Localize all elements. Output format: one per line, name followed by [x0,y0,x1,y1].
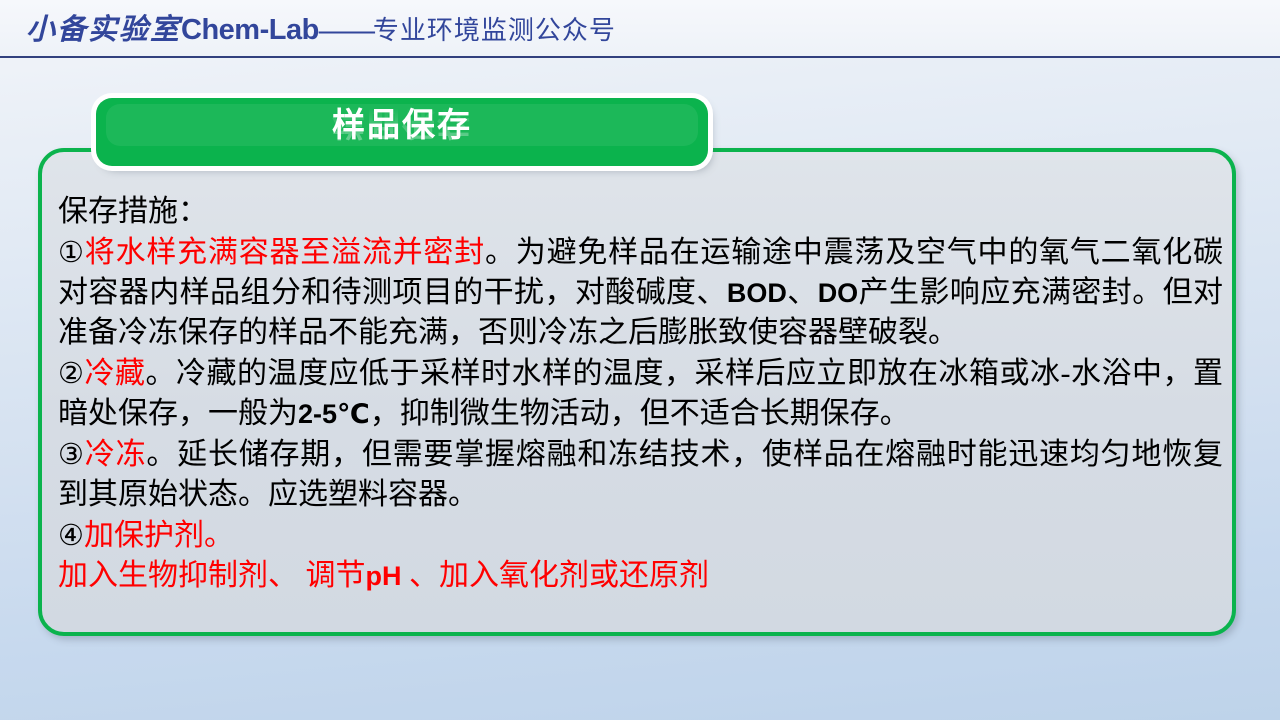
item-3-highlight: 冷冻 [85,438,147,471]
measure-item-4: ④加保护剂。 [58,515,1223,556]
item-1-term-do: DO [818,278,859,308]
item-3-body-a: 。延长储存期，但需要掌握熔融和冻结技术，使样品在熔融时能迅速均匀地恢复到其原始状… [58,438,1223,511]
item-4-marker: ④ [58,518,84,552]
brand-name-cn: 小备实验室 [26,12,181,46]
item-1-highlight: 将水样充满容器至溢流并密封 [85,236,485,269]
section-title-banner: 样品保存 样品保存 [96,98,708,166]
item-3-marker: ③ [58,437,85,471]
intro-label: 保存措施： [58,195,208,228]
section-title-label: 样品保存 [96,106,708,144]
item-4-highlight: 加保护剂 [84,519,204,552]
brand-tagline: 专业环境监测公众号 [373,16,616,45]
brand-dash: —— [319,14,373,46]
slide-canvas: 小备实验室Chem-Lab——专业环境监测公众号 非公司水印 样品保存 样品保存… [0,0,1280,720]
preservative-methods-line: 加入生物抑制剂、 调节pH 、加入氧化剂或还原剂 [58,556,1223,596]
item-1-term-bod: BOD [727,278,787,308]
item-1-body-b: 、 [787,276,818,309]
header-divider-rule [0,56,1280,58]
item-2-marker: ② [58,356,85,390]
measure-item-3: ③冷冻。延长储存期，但需要掌握熔融和冻结技术，使样品在熔融时能迅速均匀地恢复到其… [58,434,1223,515]
measure-item-2: ②冷藏。冷藏的温度应低于采样时水样的温度，采样后应立即放在冰箱或冰-水浴中，置暗… [58,353,1223,434]
intro-label-line: 保存措施： [58,192,1223,232]
brand-name-en: Chem-Lab [181,14,319,46]
item-1-marker: ① [58,235,85,269]
item-2-highlight: 冷藏 [85,357,146,390]
header-brand-title: 小备实验室Chem-Lab——专业环境监测公众号 [26,9,616,51]
item-2-body-b: ，抑制微生物活动，但不适合长期保存。 [370,397,910,430]
item-2-temperature-value: 2-5℃ [298,399,370,429]
preservative-methods-a: 加入生物抑制剂、 调节 [58,559,366,592]
item-4-body-a: 。 [204,519,234,552]
preservation-body-text: 保存措施： ①将水样充满容器至溢流并密封。为避免样品在运输途中震荡及空气中的氧气… [58,192,1223,596]
measure-item-1: ①将水样充满容器至溢流并密封。为避免样品在运输途中震荡及空气中的氧气二氧化碳对容… [58,232,1223,353]
preservative-term-ph: pH [366,561,402,591]
preservative-methods-b: 、加入氧化剂或还原剂 [402,559,710,592]
